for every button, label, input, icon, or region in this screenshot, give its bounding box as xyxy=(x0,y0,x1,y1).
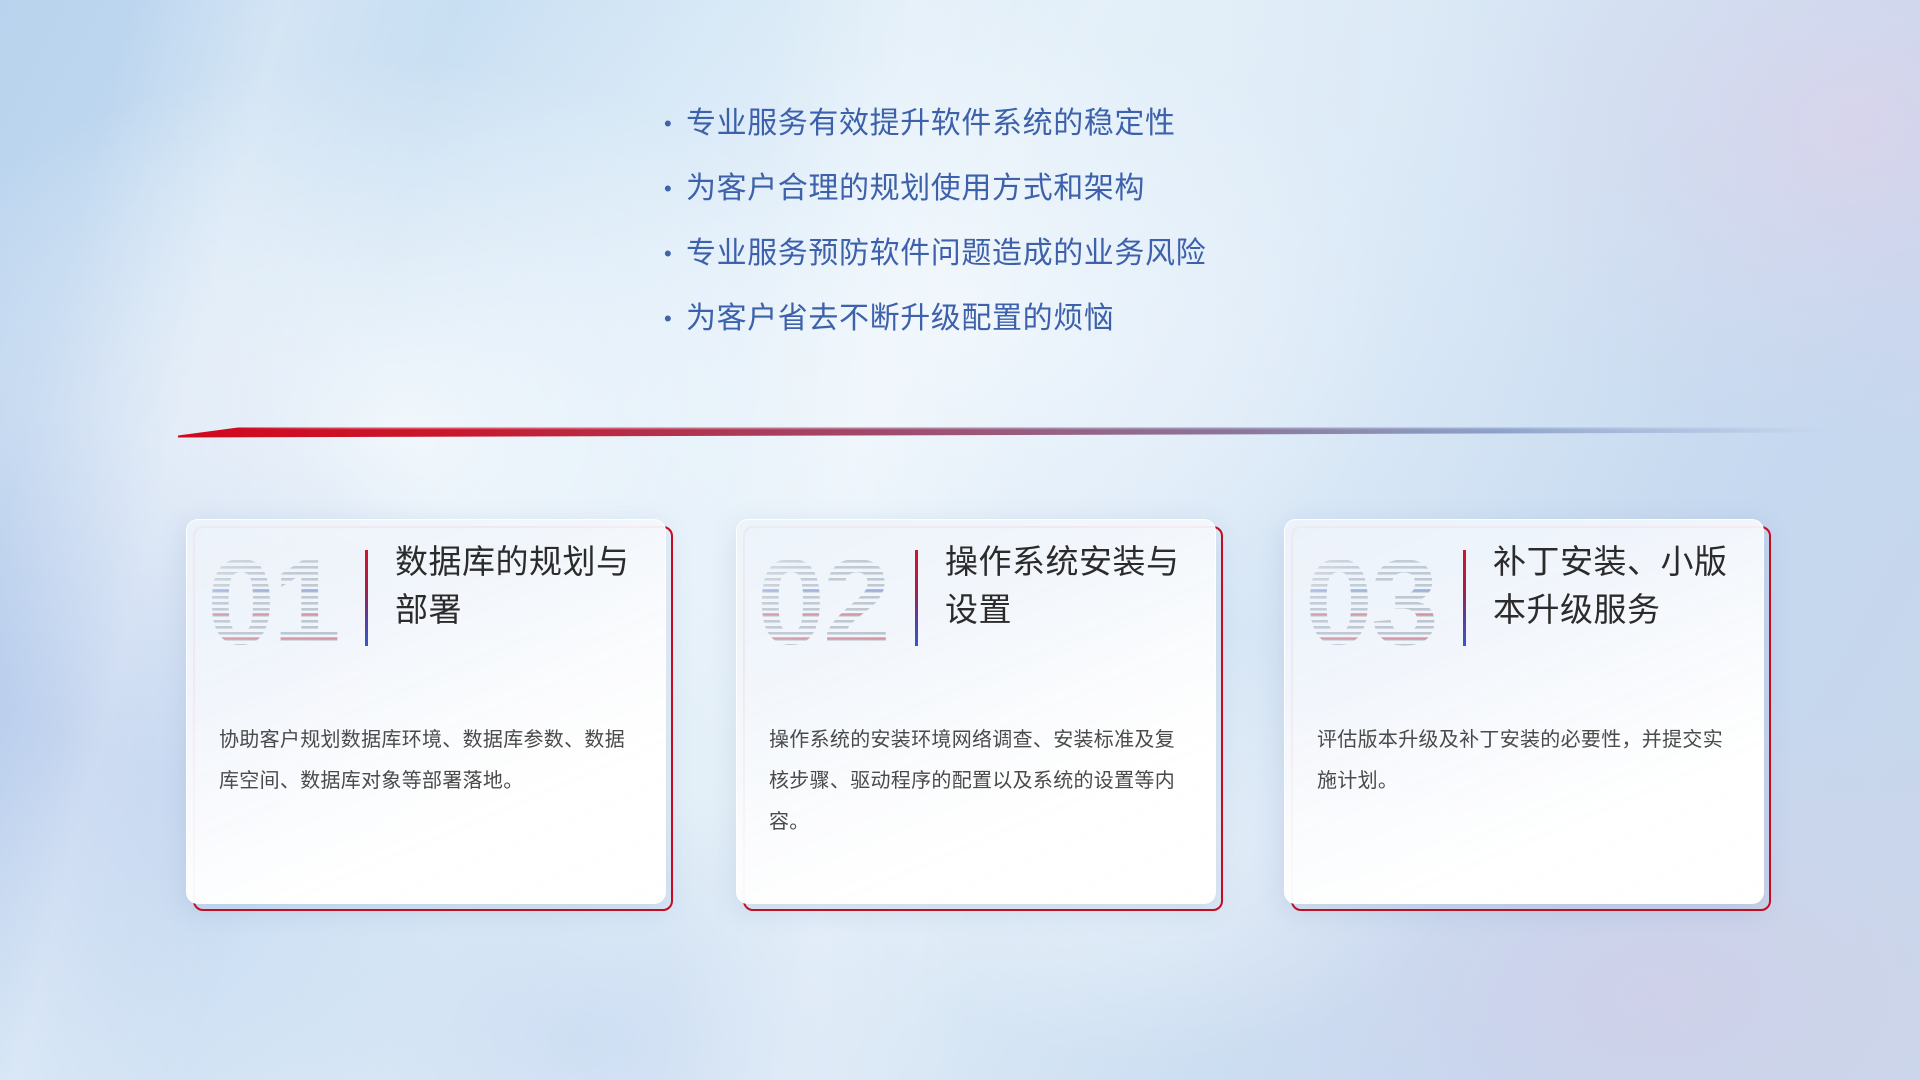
card-title-accent-bar xyxy=(915,550,918,646)
list-item: • 为客户省去不断升级配置的烦恼 xyxy=(660,299,1480,364)
service-card[interactable]: 03 xyxy=(1284,519,1764,904)
card-description: 评估版本升级及补丁安装的必要性，并提交实施计划。 xyxy=(1317,720,1741,802)
bullet-dot-icon: • xyxy=(660,169,686,209)
card-surface: 01 xyxy=(186,519,666,904)
benefits-bullet-list: • 专业服务有效提升软件系统的稳定性 • 为客户合理的规划使用方式和架构 • 专… xyxy=(660,104,1480,364)
bullet-text: 专业服务有效提升软件系统的稳定性 xyxy=(686,104,1176,144)
card-number-graphic: 01 xyxy=(205,536,345,664)
service-card-group: 01 xyxy=(186,519,1766,909)
card-title: 操作系统安装与设置 xyxy=(945,538,1203,634)
bullet-text: 为客户省去不断升级配置的烦恼 xyxy=(686,299,1114,339)
service-card[interactable]: 02 xyxy=(736,519,1216,904)
card-surface: 02 xyxy=(736,519,1216,904)
list-item: • 专业服务预防软件问题造成的业务风险 xyxy=(660,234,1480,299)
card-description: 协助客户规划数据库环境、数据库参数、数据库空间、数据库对象等部署落地。 xyxy=(219,720,643,802)
card-header: 01 xyxy=(187,520,665,700)
card-number-graphic: 03 xyxy=(1303,536,1443,664)
bullet-text: 为客户合理的规划使用方式和架构 xyxy=(686,169,1145,209)
bullet-dot-icon: • xyxy=(660,104,686,144)
slide-canvas: • 专业服务有效提升软件系统的稳定性 • 为客户合理的规划使用方式和架构 • 专… xyxy=(0,0,1920,1080)
bullet-dot-icon: • xyxy=(660,299,686,339)
service-card[interactable]: 01 xyxy=(186,519,666,904)
list-item: • 为客户合理的规划使用方式和架构 xyxy=(660,169,1480,234)
card-title: 数据库的规划与部署 xyxy=(395,538,653,634)
card-title: 补丁安装、小版本升级服务 xyxy=(1493,538,1751,634)
card-title-accent-bar xyxy=(1463,550,1466,646)
list-item: • 专业服务有效提升软件系统的稳定性 xyxy=(660,104,1480,169)
card-surface: 03 xyxy=(1284,519,1764,904)
card-title-accent-bar xyxy=(365,550,368,646)
card-description: 操作系统的安装环境网络调查、安装标准及复核步骤、驱动程序的配置以及系统的设置等内… xyxy=(769,720,1193,843)
card-header: 03 xyxy=(1285,520,1763,700)
card-header: 02 xyxy=(737,520,1215,700)
card-number-graphic: 02 xyxy=(755,536,895,664)
section-divider xyxy=(178,418,1828,444)
bullet-dot-icon: • xyxy=(660,234,686,274)
bullet-text: 专业服务预防软件问题造成的业务风险 xyxy=(686,234,1206,274)
